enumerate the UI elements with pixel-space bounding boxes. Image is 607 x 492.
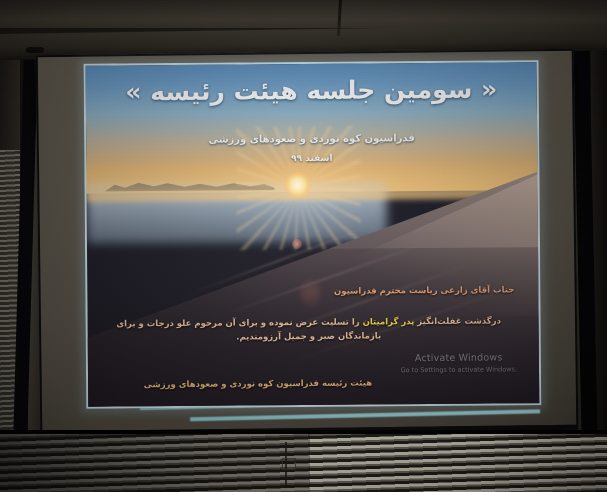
slide-text-layer: « سومین جلسه هیئت رئیسه » فدراسیون کوه ن… bbox=[86, 62, 540, 407]
slide-subtitle: فدراسیون کوه نوردی و صعودهای ورزشی bbox=[86, 132, 537, 147]
photo-of-projected-slide: « سومین جلسه هیئت رئیسه » فدراسیون کوه ن… bbox=[0, 0, 607, 492]
slide-body-paragraph: درگذشت غفلت‌انگیز پدر گرامیتان را تسلیت … bbox=[95, 314, 523, 345]
slide-date: اسفند ۹۹ bbox=[86, 152, 537, 166]
projection-screen: « سومین جلسه هیئت رئیسه » فدراسیون کوه ن… bbox=[36, 49, 579, 434]
screen-housing-bracket bbox=[26, 47, 44, 53]
projected-slide-area: « سومین جلسه هیئت رئیسه » فدراسیون کوه ن… bbox=[84, 60, 542, 409]
body-text-before: درگذشت غفلت‌انگیز bbox=[414, 316, 501, 327]
body-text-after: را تسلیت عرض نموده و برای آن مرحوم علو د… bbox=[116, 318, 381, 343]
powerpoint-slide: « سومین جلسه هیئت رئیسه » فدراسیون کوه ن… bbox=[84, 60, 542, 409]
body-text-highlight: پدر گرامیتان bbox=[363, 317, 415, 327]
slide-title: « سومین جلسه هیئت رئیسه » bbox=[86, 74, 537, 107]
slide-signature: هیئت رئیسه فدراسیون کوه نوردی و صعودهای … bbox=[102, 378, 372, 390]
blinds-wand-bracket bbox=[282, 458, 296, 470]
blinds-shadow bbox=[0, 434, 310, 492]
slide-salutation: جناب آقای زارعی ریاست محترم فدراسیون bbox=[214, 285, 514, 297]
